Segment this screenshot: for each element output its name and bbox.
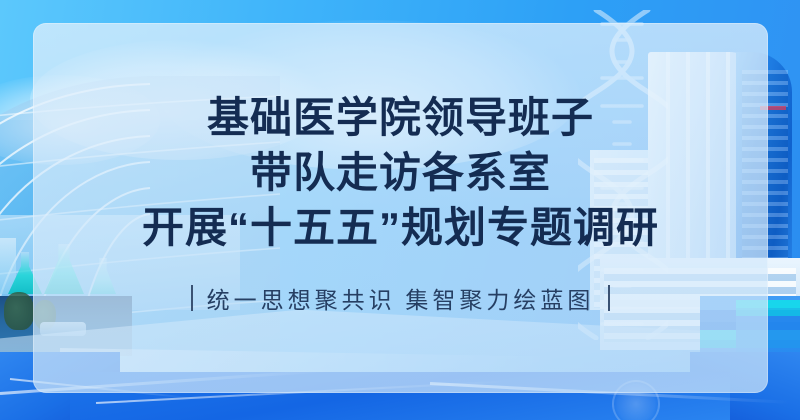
banner-title-line-1: 基础医学院领导班子 bbox=[207, 90, 594, 145]
event-banner: 基础医学院领导班子 带队走访各系室 开展“十五五”规划专题调研 统一思想聚共识 … bbox=[0, 0, 800, 420]
banner-title-line-3: 开展“十五五”规划专题调研 bbox=[142, 200, 659, 255]
banner-subtitle: 统一思想聚共识 集智聚力绘蓝图 bbox=[207, 281, 595, 315]
subtitle-divider-right bbox=[608, 285, 610, 311]
test-tube-rack bbox=[0, 238, 16, 294]
subtitle-divider-left bbox=[191, 285, 193, 311]
tree-shape bbox=[4, 292, 34, 330]
banner-title-line-2: 带队走访各系室 bbox=[250, 145, 551, 200]
banner-text-block: 基础医学院领导班子 带队走访各系室 开展“十五五”规划专题调研 统一思想聚共识 … bbox=[33, 23, 768, 393]
banner-subtitle-row: 统一思想聚共识 集智聚力绘蓝图 bbox=[191, 281, 611, 315]
